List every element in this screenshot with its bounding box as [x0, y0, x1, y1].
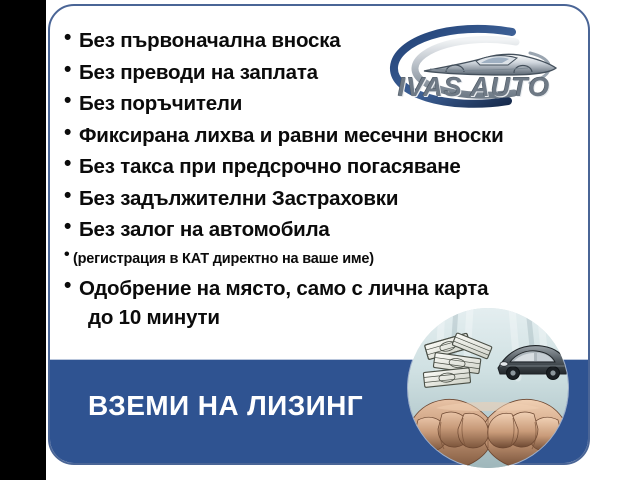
list-item-note: • (регистрация в КАТ директно на ваше им…: [64, 247, 590, 272]
hands-holding-money-and-car-photo: [408, 308, 568, 468]
bullet-text: Без такса при предсрочно погасяване: [79, 152, 590, 181]
bullet-text: Без залог на автомобила: [79, 215, 590, 244]
bullet-dot-icon: •: [64, 216, 79, 237]
bullet-text: Фиксирана лихва и равни месечни вноски: [79, 121, 590, 150]
list-item: • Без такса при предсрочно погасяване: [64, 152, 590, 181]
bullet-dot-icon: •: [64, 59, 79, 80]
car-swoosh-logo-icon: [380, 23, 568, 109]
bullet-text-line1: Одобрение на място, само с лична карта: [79, 277, 488, 300]
bullet-dot-icon: •: [64, 122, 79, 143]
bullet-dot-icon: •: [64, 90, 79, 111]
bullet-dot-icon: •: [64, 153, 79, 174]
list-item: • Без залог на автомобила: [64, 215, 590, 244]
hands-money-car-illustration: [408, 308, 568, 468]
list-item: • Фиксирана лихва и равни месечни вноски: [64, 121, 590, 150]
bullet-text: Без задължителни Застраховки: [79, 184, 590, 213]
slide-canvas: • Без първоначална вноска • Без преводи …: [0, 0, 640, 480]
bullet-dot-icon: •: [64, 27, 79, 48]
bullet-dot-icon: •: [64, 275, 79, 296]
ivas-auto-logo: IVAS AUTO: [380, 23, 568, 109]
bullet-dot-icon: •: [64, 247, 73, 263]
letterbox-bar-left: [0, 0, 46, 480]
bullet-text: (регистрация в КАТ директно на ваше име): [73, 247, 590, 272]
list-item: • Без задължителни Застраховки: [64, 184, 590, 213]
cta-label: ВЗЕМИ НА ЛИЗИНГ: [88, 390, 363, 422]
bullet-dot-icon: •: [64, 185, 79, 206]
